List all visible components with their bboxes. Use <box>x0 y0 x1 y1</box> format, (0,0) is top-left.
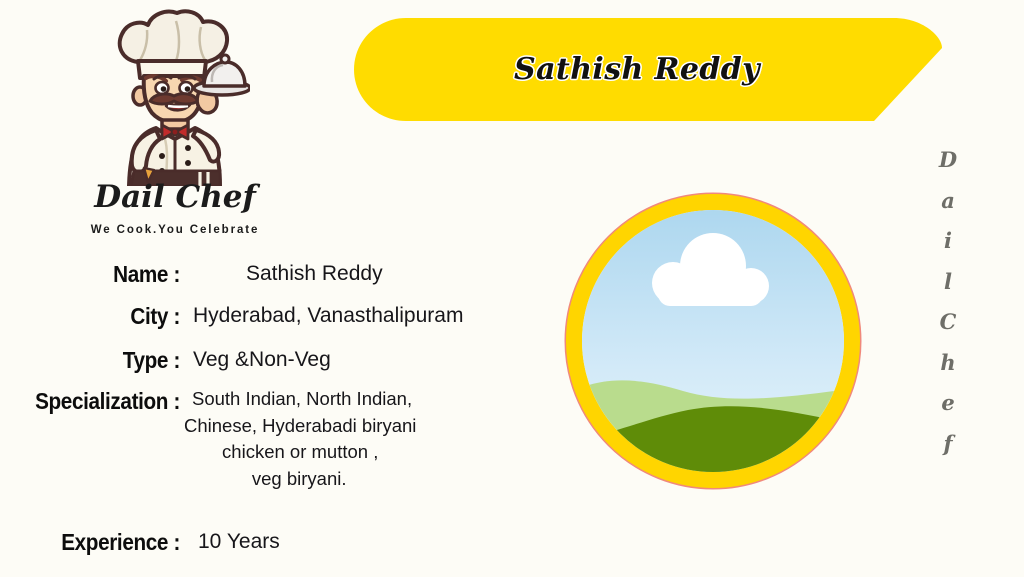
detail-row-specialization: Specialization : South Indian, North Ind… <box>0 386 560 492</box>
vertical-brand-letter: l <box>928 262 968 303</box>
specialization-line: chicken or mutton , <box>184 439 416 466</box>
logo-wordmark: Dail Chef <box>40 182 310 213</box>
vertical-brand-letter: a <box>928 181 968 222</box>
value-experience: 10 Years <box>180 526 280 558</box>
specialization-line: veg biryani. <box>182 466 416 493</box>
vertical-brand-letter: h <box>928 343 968 384</box>
vertical-brand-text: D a i l C h e f <box>928 140 968 464</box>
value-specialization: South Indian, North Indian, Chinese, Hyd… <box>180 386 416 492</box>
detail-row-name: Name : Sathish Reddy <box>0 258 560 290</box>
chef-mascot-icon <box>100 8 250 186</box>
detail-row-type: Type : Veg &Non-Veg <box>0 344 560 376</box>
detail-row-experience: Experience : 10 Years <box>0 526 560 558</box>
vertical-brand-letter: C <box>928 302 968 343</box>
detail-row-city: City : Hyderabad, Vanasthalipuram <box>0 300 560 332</box>
label-specialization: Specialization : <box>18 386 180 416</box>
value-name: Sathish Reddy <box>180 258 383 290</box>
name-banner: Sathish Reddy <box>354 18 942 121</box>
label-experience: Experience : <box>18 526 180 558</box>
vertical-brand-letter: f <box>928 424 968 465</box>
chef-details: Name : Sathish Reddy City : Hyderabad, V… <box>0 258 560 561</box>
chef-photo <box>563 191 863 491</box>
landscape-placeholder-image <box>563 191 863 491</box>
banner-title: Sathish Reddy <box>354 18 920 121</box>
label-type: Type : <box>18 344 180 376</box>
vertical-brand-letter: D <box>928 140 968 181</box>
label-name: Name : <box>18 258 180 290</box>
vertical-brand-letter: e <box>928 383 968 424</box>
logo-tagline: We Cook.You Celebrate <box>40 224 310 236</box>
value-city: Hyderabad, Vanasthalipuram <box>180 300 463 332</box>
value-type: Veg &Non-Veg <box>180 344 331 376</box>
brand-logo-block: Dail Chef We Cook.You Celebrate <box>40 8 310 248</box>
chef-profile-card: Dail Chef We Cook.You Celebrate Sathish … <box>0 0 1024 577</box>
vertical-brand-letter: i <box>928 221 968 262</box>
specialization-line: Chinese, Hyderabadi biryani <box>184 413 416 440</box>
specialization-line: South Indian, North Indian, <box>192 386 416 413</box>
label-city: City : <box>18 300 180 332</box>
